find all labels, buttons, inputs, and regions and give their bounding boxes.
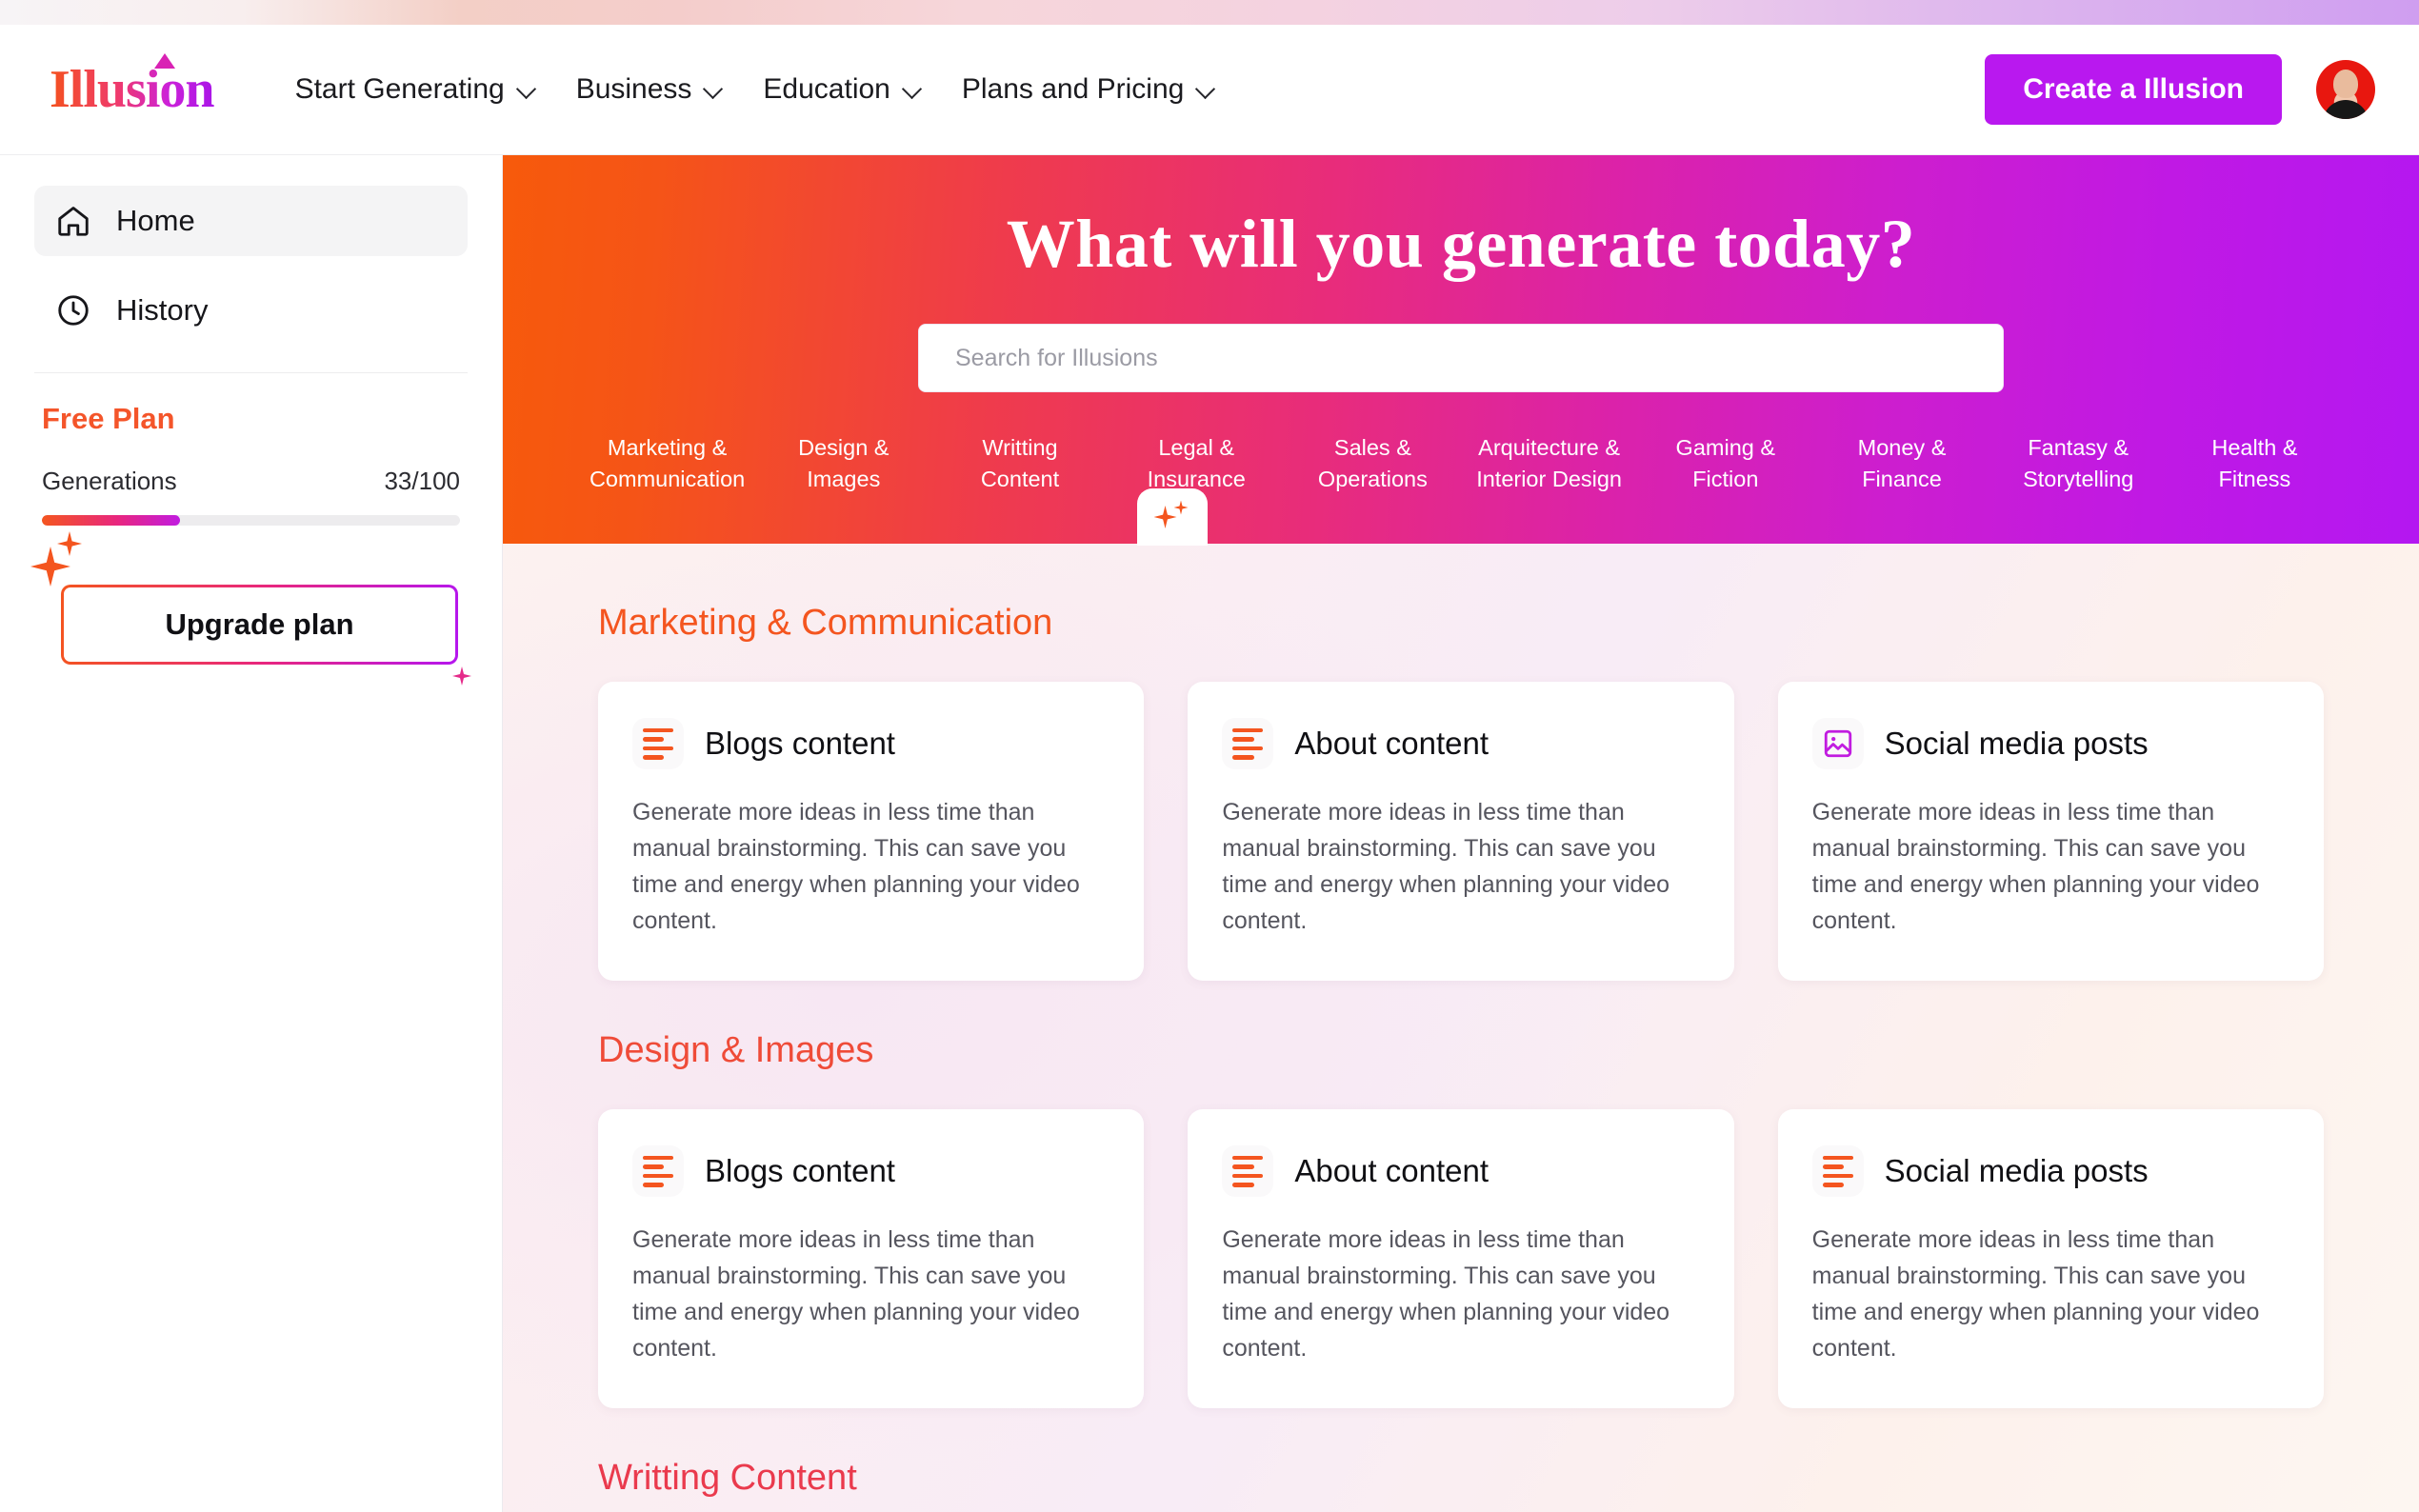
card-title: Social media posts [1885, 726, 2149, 762]
generations-progress-bar [42, 515, 460, 526]
nav-label: Education [763, 73, 890, 106]
hero-banner: What will you generate today? Marketing … [503, 155, 2419, 544]
avatar[interactable] [2316, 60, 2375, 119]
tab-arquitecture-interior-design[interactable]: Arquitecture & Interior Design [1461, 432, 1637, 496]
brand-logo[interactable]: Illusion [50, 59, 214, 120]
sidebar: Home History Free Plan Generations 33/10… [0, 155, 503, 1512]
category-tabs: Marketing & Communication Design & Image… [503, 432, 2419, 496]
card-title: Blogs content [705, 726, 895, 762]
top-gradient-strip [0, 0, 2419, 25]
section-writting-content: Writting Content [598, 1458, 2324, 1499]
clock-icon [55, 292, 91, 328]
brand-logo-text: Illusion [50, 60, 214, 119]
plan-name: Free Plan [42, 402, 468, 436]
create-illusion-button[interactable]: Create a Illusion [1985, 54, 2282, 125]
sparkle-icon [30, 547, 70, 587]
card-description: Generate more ideas in less time than ma… [1812, 1222, 2289, 1366]
chevron-down-icon [518, 82, 534, 98]
tab-writting-content[interactable]: Writting Content [931, 432, 1108, 496]
search-input[interactable] [918, 324, 2004, 392]
card-row: Blogs content Generate more ideas in les… [598, 1109, 2324, 1408]
nav-item-plans-and-pricing[interactable]: Plans and Pricing [962, 73, 1213, 106]
card-title: About content [1294, 1153, 1489, 1189]
card-description: Generate more ideas in less time than ma… [1222, 794, 1699, 939]
tab-money-finance[interactable]: Money & Finance [1813, 432, 1989, 496]
tab-fantasy-storytelling[interactable]: Fantasy & Storytelling [1990, 432, 2167, 496]
text-lines-icon [1222, 718, 1273, 769]
card-blogs-content[interactable]: Blogs content Generate more ideas in les… [598, 682, 1144, 981]
card-description: Generate more ideas in less time than ma… [1222, 1222, 1699, 1366]
generations-usage-row: Generations 33/100 [42, 467, 460, 496]
text-lines-icon [1812, 1145, 1864, 1197]
nav-item-start-generating[interactable]: Start Generating [295, 73, 534, 106]
chevron-down-icon [1197, 82, 1213, 98]
card-header: Blogs content [632, 718, 1110, 769]
card-header: About content [1222, 1145, 1699, 1197]
home-icon [55, 203, 91, 239]
header-actions: Create a Illusion [1985, 54, 2375, 125]
card-about-content[interactable]: About content Generate more ideas in les… [1188, 1109, 1733, 1408]
sidebar-item-label: Home [116, 204, 195, 238]
card-social-media-posts[interactable]: Social media posts Generate more ideas i… [1778, 1109, 2324, 1408]
nav-label: Start Generating [295, 73, 505, 106]
primary-nav: Start Generating Business Education Plan… [295, 73, 1214, 106]
section-title: Marketing & Communication [598, 603, 2324, 644]
app-header: Illusion Start Generating Business Educa… [0, 25, 2419, 155]
text-lines-icon [632, 718, 684, 769]
chevron-down-icon [904, 82, 920, 98]
image-icon-glyph [1822, 727, 1854, 760]
card-description: Generate more ideas in less time than ma… [632, 794, 1110, 939]
nav-item-education[interactable]: Education [763, 73, 919, 106]
card-blogs-content[interactable]: Blogs content Generate more ideas in les… [598, 1109, 1144, 1408]
upgrade-plan-container: Upgrade plan [61, 585, 458, 665]
generations-progress-fill [42, 515, 180, 526]
active-tab-indicator [1137, 488, 1208, 546]
card-social-media-posts[interactable]: Social media posts Generate more ideas i… [1778, 682, 2324, 981]
card-row: Blogs content Generate more ideas in les… [598, 682, 2324, 981]
card-header: Blogs content [632, 1145, 1110, 1197]
sparkle-icon [452, 666, 471, 686]
image-icon [1812, 718, 1864, 769]
card-title: Social media posts [1885, 1153, 2149, 1189]
nav-label: Plans and Pricing [962, 73, 1184, 106]
sparkle-icon [1174, 501, 1189, 515]
text-lines-icon [632, 1145, 684, 1197]
card-title: About content [1294, 726, 1489, 762]
sidebar-item-home[interactable]: Home [34, 186, 468, 256]
nav-label: Business [576, 73, 692, 106]
section-title: Writting Content [598, 1458, 2324, 1499]
text-lines-icon [1222, 1145, 1273, 1197]
card-header: Social media posts [1812, 718, 2289, 769]
generations-label: Generations [42, 467, 177, 496]
sidebar-item-label: History [116, 293, 208, 328]
section-design-images: Design & Images Blogs content Generate m… [598, 1030, 2324, 1408]
card-description: Generate more ideas in less time than ma… [632, 1222, 1110, 1366]
tab-health-fitness[interactable]: Health & Fitness [2167, 432, 2343, 496]
generations-count: 33/100 [384, 467, 460, 496]
sparkle-icon [1154, 506, 1177, 528]
sidebar-divider [34, 372, 468, 373]
card-header: About content [1222, 718, 1699, 769]
tab-legal-insurance[interactable]: Legal & Insurance [1109, 432, 1285, 496]
chevron-down-icon [705, 82, 721, 98]
sidebar-item-history[interactable]: History [34, 275, 468, 346]
section-title: Design & Images [598, 1030, 2324, 1071]
category-sections: Marketing & Communication Blogs content … [503, 544, 2419, 1499]
search-container [503, 324, 2419, 392]
page-title: What will you generate today? [503, 155, 2419, 284]
card-header: Social media posts [1812, 1145, 2289, 1197]
section-marketing-communication: Marketing & Communication Blogs content … [598, 603, 2324, 981]
card-description: Generate more ideas in less time than ma… [1812, 794, 2289, 939]
tab-gaming-fiction[interactable]: Gaming & Fiction [1637, 432, 1813, 496]
card-title: Blogs content [705, 1153, 895, 1189]
logo-accent-mark [154, 53, 175, 69]
nav-item-business[interactable]: Business [576, 73, 722, 106]
tab-design-images[interactable]: Design & Images [755, 432, 931, 496]
main-content: What will you generate today? Marketing … [503, 155, 2419, 1512]
card-about-content[interactable]: About content Generate more ideas in les… [1188, 682, 1733, 981]
tab-marketing-communication[interactable]: Marketing & Communication [579, 432, 755, 496]
tab-sales-operations[interactable]: Sales & Operations [1285, 432, 1461, 496]
upgrade-plan-button[interactable]: Upgrade plan [61, 585, 458, 665]
